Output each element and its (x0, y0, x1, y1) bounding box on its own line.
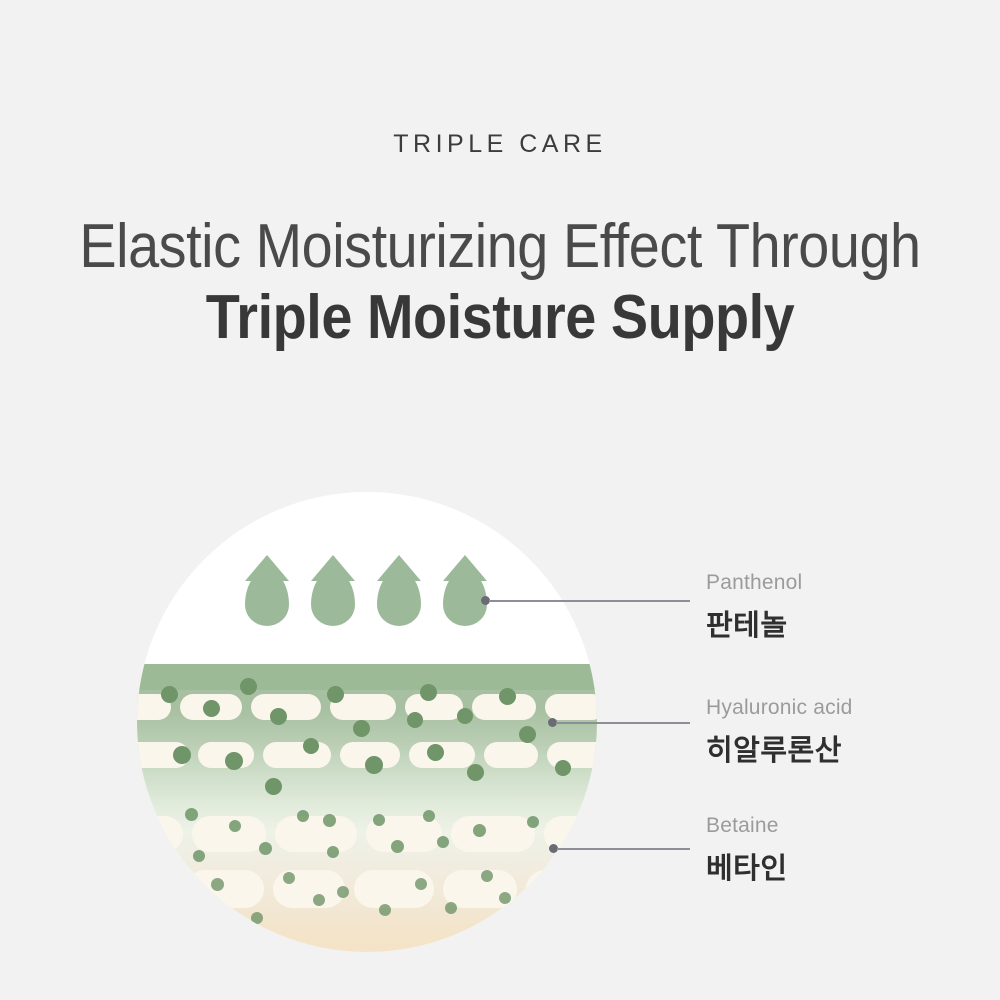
molecule-dot (423, 810, 435, 822)
molecule-dot (297, 810, 309, 822)
headline-line-1: Elastic Moisturizing Effect Through (50, 212, 950, 281)
molecule-dot (437, 836, 449, 848)
molecule-dot (173, 746, 191, 764)
molecule-dot (225, 752, 243, 770)
ingredient-label-betaine: Betaine 베타인 (706, 814, 788, 887)
molecule-dot (527, 816, 539, 828)
molecule-dot (283, 872, 295, 884)
ingredient-name-en: Hyaluronic acid (706, 696, 853, 720)
molecule-dot (229, 820, 241, 832)
molecule-dot (203, 700, 220, 717)
molecule-dot (337, 886, 349, 898)
molecule-dot (303, 738, 319, 754)
ingredient-name-en: Panthenol (706, 571, 802, 595)
molecule-dot (259, 842, 272, 855)
ingredient-name-ko: 판테놀 (706, 602, 802, 644)
molecule-dot (427, 744, 444, 761)
air-zone (137, 492, 597, 664)
molecule-dot (457, 708, 473, 724)
callout-line-hyaluronic-acid (556, 722, 690, 724)
skin-cross-section-diagram (137, 492, 597, 952)
ingredient-name-ko: 베타인 (706, 845, 788, 887)
molecule-dot (525, 910, 537, 922)
molecule-dot (391, 840, 404, 853)
headline-line-2: Triple Moisture Supply (50, 281, 950, 354)
molecule-dot (270, 708, 287, 725)
callout-line-panthenol (489, 600, 690, 602)
molecule-dot (211, 878, 224, 891)
molecule-dot (499, 892, 511, 904)
diagram-circle (137, 492, 597, 952)
molecule-dot (240, 678, 257, 695)
molecule-dot (327, 846, 339, 858)
molecule-dot (193, 850, 205, 862)
callout-line-betaine (557, 848, 690, 850)
molecule-dot (373, 814, 385, 826)
molecule-dot (473, 824, 486, 837)
molecule-dot (467, 764, 484, 781)
molecule-dot (161, 686, 178, 703)
ingredient-label-hyaluronic-acid: Hyaluronic acid 히알루론산 (706, 696, 853, 769)
molecule-dot (251, 912, 263, 924)
molecule-dot (499, 688, 516, 705)
molecule-dot (555, 760, 571, 776)
molecule-dot (519, 726, 536, 743)
skin-layers (137, 664, 597, 952)
molecule-dot (407, 712, 423, 728)
skin-surface-band (137, 664, 597, 690)
ingredient-name-ko: 히알루론산 (706, 727, 853, 769)
page-title: Elastic Moisturizing Effect Through Trip… (0, 212, 1000, 355)
molecule-dot (379, 904, 391, 916)
water-droplet-icon (245, 570, 289, 626)
molecule-dot (445, 902, 457, 914)
molecule-dot (323, 814, 336, 827)
molecule-dot (481, 870, 493, 882)
water-droplet-icon (311, 570, 355, 626)
molecule-dot (415, 878, 427, 890)
eyebrow-label: TRIPLE CARE (0, 130, 1000, 159)
cell-row (137, 870, 597, 908)
molecule-dot (265, 778, 282, 795)
molecule-dot (185, 808, 198, 821)
molecule-dot (353, 720, 370, 737)
molecule-dot (365, 756, 383, 774)
molecule-dot (420, 684, 437, 701)
molecule-dot (327, 686, 344, 703)
molecule-dot (313, 894, 325, 906)
ingredient-name-en: Betaine (706, 814, 788, 838)
water-droplet-icon (377, 570, 421, 626)
ingredient-label-panthenol: Panthenol 판테놀 (706, 571, 802, 644)
